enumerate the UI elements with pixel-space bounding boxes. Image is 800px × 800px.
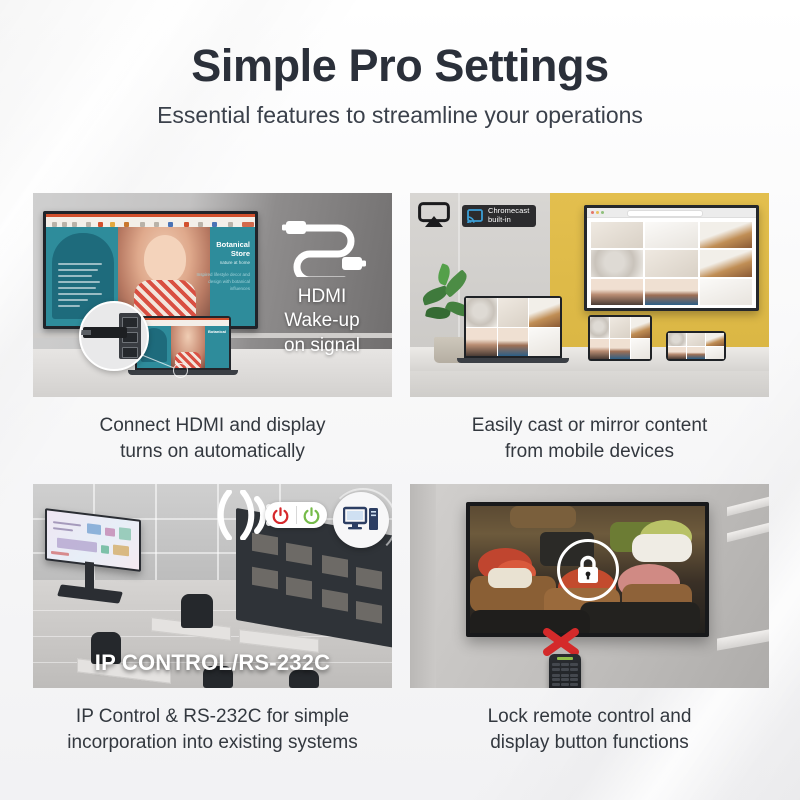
laptop bbox=[464, 296, 562, 363]
hdmi-overlay-line-2: Wake-up bbox=[262, 309, 382, 333]
slide-title-block: Botanical Store nature at home Inspired … bbox=[188, 241, 250, 293]
chromecast-badge-line-2: built-in bbox=[488, 216, 529, 225]
slide-subtitle: nature at home bbox=[188, 260, 250, 265]
power-state-pill bbox=[265, 502, 327, 528]
caption-line-2: from mobile devices bbox=[416, 439, 763, 465]
hdmi-plug bbox=[83, 327, 127, 338]
laptop-screen bbox=[466, 298, 560, 356]
caption-lock-controls: Lock remote control and display button f… bbox=[410, 688, 769, 775]
slide-body-text: Inspired lifestyle decor and design with… bbox=[188, 272, 250, 292]
display-screen bbox=[470, 506, 705, 633]
remote-control-icon bbox=[549, 654, 581, 688]
red-x-icon bbox=[540, 627, 582, 657]
hdmi-wake-up-image: Botanical Store nature at home Inspired … bbox=[33, 193, 392, 397]
product-grid bbox=[591, 222, 752, 305]
wall-display bbox=[466, 502, 709, 637]
caption-line-1: IP Control & RS-232C for simple bbox=[39, 704, 386, 730]
cast-mirror-image: Chromecast built-in bbox=[410, 193, 769, 397]
feature-card-cast-mirror[interactable]: Chromecast built-in bbox=[410, 193, 769, 484]
hdmi-overlay-text: HDMI Wake-up on signal bbox=[262, 285, 382, 358]
browser-chrome bbox=[587, 208, 756, 218]
laptop-lid: Botanical bbox=[135, 316, 231, 370]
caption-line-2: incorporation into existing systems bbox=[39, 730, 386, 756]
chromecast-badge: Chromecast built-in bbox=[462, 205, 536, 227]
slide-title-2: Store bbox=[188, 250, 250, 259]
page-subtitle: Essential features to streamline your op… bbox=[0, 103, 800, 128]
chromecast-icon bbox=[467, 209, 483, 223]
caption-line-1: Connect HDMI and display bbox=[39, 413, 386, 439]
hdmi-overlay-line-1: HDMI bbox=[262, 285, 382, 309]
feature-card-hdmi-wake-up[interactable]: Botanical Store nature at home Inspired … bbox=[33, 193, 392, 484]
page-title: Simple Pro Settings bbox=[0, 42, 800, 89]
caption-line-1: Lock remote control and bbox=[416, 704, 763, 730]
smartphone bbox=[666, 331, 726, 361]
display-screen: Botanical Store nature at home Inspired … bbox=[46, 214, 255, 326]
caption-line-2: turns on automatically bbox=[39, 439, 386, 465]
page-header: Simple Pro Settings Essential features t… bbox=[0, 42, 800, 129]
slide-canvas: Botanical Store nature at home Inspired … bbox=[46, 227, 255, 326]
caption-ip-control: IP Control & RS-232C for simple incorpor… bbox=[33, 688, 392, 775]
ip-control-overlay-text: IP CONTROL/RS-232C bbox=[33, 650, 392, 676]
laptop-screen: Botanical bbox=[137, 318, 229, 368]
display-screen bbox=[47, 511, 139, 570]
desktop-pc-icon bbox=[333, 492, 389, 548]
tablet-screen bbox=[590, 317, 650, 359]
caption-hdmi-wake-up: Connect HDMI and display turns on automa… bbox=[33, 397, 392, 484]
caption-cast-mirror: Easily cast or mirror content from mobil… bbox=[410, 397, 769, 484]
laptop-slide-title: Botanical bbox=[208, 330, 226, 335]
caption-line-2: display button functions bbox=[416, 730, 763, 756]
caption-line-1: Easily cast or mirror content bbox=[416, 413, 763, 439]
lock-icon bbox=[557, 539, 619, 601]
ip-control-image: IP CONTROL/RS-232C bbox=[33, 484, 392, 688]
hdmi-port-magnifier bbox=[79, 301, 149, 371]
tablet bbox=[588, 315, 652, 361]
laptop-base bbox=[457, 358, 569, 363]
feature-card-ip-control[interactable]: IP CONTROL/RS-232C IP Control & RS-232C … bbox=[33, 484, 392, 775]
chair-1 bbox=[181, 594, 213, 628]
feature-card-lock-controls[interactable]: Lock remote control and display button f… bbox=[410, 484, 769, 775]
hdmi-cable-icon bbox=[282, 215, 366, 277]
display-stand bbox=[85, 562, 94, 591]
feature-grid: Botanical Store nature at home Inspired … bbox=[33, 193, 769, 776]
wall-display: Botanical Store nature at home Inspired … bbox=[43, 211, 258, 329]
phone-screen bbox=[668, 333, 724, 359]
hdmi-overlay-line-3: on signal bbox=[262, 334, 382, 358]
display-screen bbox=[587, 208, 756, 308]
wall-display bbox=[584, 205, 759, 311]
wall-pillar bbox=[410, 484, 436, 688]
airplay-icon bbox=[418, 202, 450, 228]
feature-page: Simple Pro Settings Essential features t… bbox=[0, 0, 800, 800]
laptop-lid bbox=[464, 296, 562, 358]
lock-controls-image bbox=[410, 484, 769, 688]
chromecast-badge-text: Chromecast built-in bbox=[488, 207, 529, 225]
power-on-icon bbox=[297, 507, 328, 524]
magnifier-leader-dot bbox=[173, 363, 188, 378]
power-off-icon bbox=[265, 507, 296, 524]
